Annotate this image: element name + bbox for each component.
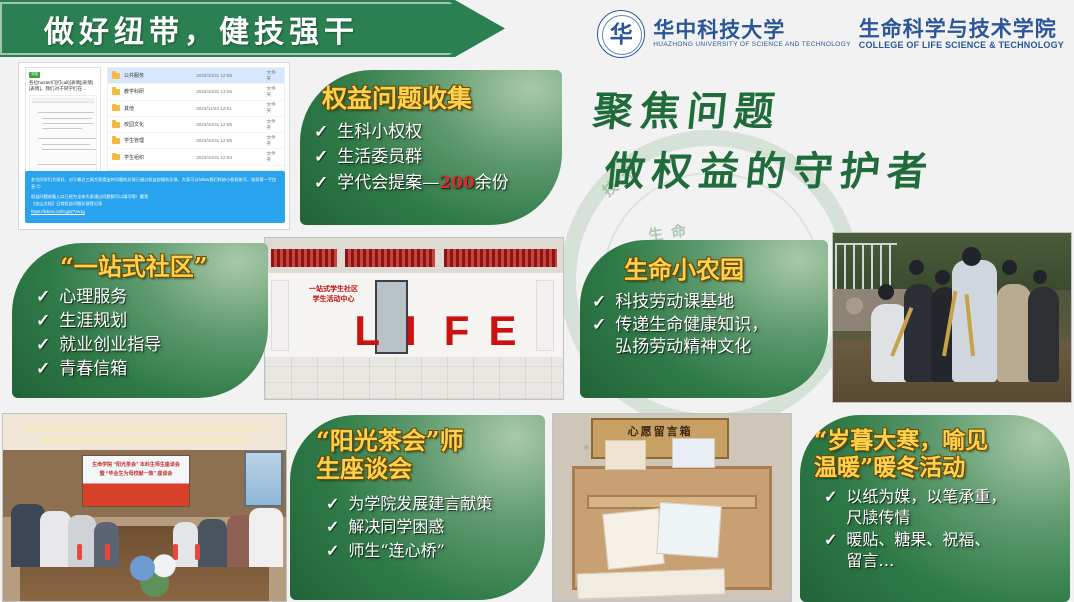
- card-bullets: ✓ 以纸为媒，以笔承重， 尺牍传情 ✓ 暖贴、糖果、祝福、 留言…: [824, 487, 1070, 571]
- list-item: ✓ 师生“连心桥”: [326, 541, 545, 561]
- person: [1028, 287, 1059, 382]
- wish-note: [656, 502, 721, 559]
- file-name: 校园文化: [124, 121, 196, 128]
- list-item-label: 就业创业指导: [59, 335, 161, 357]
- file-date: 2023/10/31 12:54: [196, 155, 266, 160]
- list-item-text-post: 余份: [475, 173, 509, 193]
- list-item: ✓ 以纸为媒，以笔承重， 尺牍传情: [824, 487, 1070, 528]
- list-item-label: 以纸为媒，以笔承重， 尺牍传情: [846, 487, 1006, 528]
- list-item-label: 心理服务: [59, 287, 127, 309]
- card-bullets: ✓ 科技劳动课基地 ✓ 传递生命健康知识， 弘扬劳动精神文化: [592, 292, 828, 358]
- list-item-text-pre: 学代会提案—: [337, 173, 439, 193]
- list-item-label: 师生“连心桥”: [348, 541, 444, 561]
- headline-line-1: 聚焦问题: [591, 88, 784, 135]
- list-item: ✓ 生科小权权: [314, 122, 562, 144]
- check-icon: ✓: [326, 494, 339, 514]
- preview-line: [42, 123, 94, 124]
- file-name: 公共服务: [124, 72, 196, 79]
- list-item-highlight: 200: [439, 173, 475, 193]
- card-bullets: ✓ 心理服务 ✓ 生涯规划 ✓ 就业创业指导 ✓ 青春信箱: [36, 287, 268, 380]
- card-title: “阳光茶会”师 生座谈会: [316, 427, 545, 484]
- file-type: 文件夹: [267, 102, 280, 114]
- table-row[interactable]: 学生管理 2023/10/31 12:55 文件夹: [108, 133, 284, 149]
- file-type: 文件夹: [267, 151, 280, 163]
- preview-line: [42, 128, 82, 129]
- list-item: ✓ 解决同学困惑: [326, 517, 545, 537]
- file-type: 文件夹: [267, 86, 280, 98]
- photo-student-activity-center: 一站式学生社区 学生活动中心 L I F E: [264, 237, 564, 400]
- file-list[interactable]: 公共服务 2023/10/31 12:58 文件夹 教学科研 2023/10/3…: [107, 67, 285, 171]
- list-item-label: 解决同学困惑: [348, 517, 444, 537]
- wall-letter: L: [354, 312, 380, 354]
- louver-panel: [444, 249, 557, 267]
- file-name: 教学科研: [124, 88, 196, 95]
- file-type: 文件夹: [267, 119, 280, 131]
- file-date: 2023/11/23 12:51: [196, 106, 266, 111]
- head: [962, 247, 981, 266]
- ceiling-light-strip: [37, 438, 252, 441]
- head: [1002, 260, 1017, 275]
- message-chip: 消息: [29, 72, 40, 78]
- card-life-farm: 生命小农园 ✓ 科技劳动课基地 ✓ 传递生命健康知识， 弘扬劳动精神文化: [580, 240, 828, 398]
- folder-icon: [112, 89, 120, 95]
- louver-panel: [345, 249, 434, 267]
- list-item-label: 暖贴、糖果、祝福、 留言…: [846, 530, 990, 571]
- bubble-line-1: 各位同学们大家好，对于最近三周大家提出的问题的反馈已通过权益部服务反馈，大家可以…: [31, 176, 279, 190]
- list-item-label: 学代会提案—200余份: [337, 173, 509, 195]
- water-bottle: [195, 544, 200, 560]
- check-icon: ✓: [326, 517, 339, 537]
- list-item-label: 科技劳动课基地: [615, 292, 734, 314]
- check-icon: ✓: [824, 487, 837, 507]
- preview-line: [38, 164, 97, 165]
- card-title: 权益问题收集: [322, 84, 562, 114]
- photo-content: 心愿留言箱: [553, 414, 791, 601]
- water-bottle: [105, 544, 110, 560]
- list-item: ✓ 青春信箱: [36, 359, 268, 381]
- preview-line: [42, 118, 92, 119]
- university-emblem-icon: 华: [597, 10, 645, 58]
- folder-icon: [112, 73, 120, 79]
- wall-poster: [536, 280, 554, 351]
- photo-content: [833, 233, 1071, 402]
- wish-note: [672, 438, 715, 468]
- logo-university-en: HUAZHONG UNIVERSITY OF SCIENCE AND TECHN…: [653, 41, 851, 49]
- list-item-label: 传递生命健康知识， 弘扬劳动精神文化: [615, 315, 768, 359]
- water-bottle: [77, 544, 82, 560]
- list-item-line-2: 尺牍传情: [846, 508, 1006, 528]
- list-item: ✓ 学代会提案—200余份: [314, 173, 562, 195]
- wall-letter: F: [444, 312, 470, 354]
- list-item-label: 生涯规划: [59, 311, 127, 333]
- photo-students-gardening: [832, 232, 1072, 403]
- check-icon: ✓: [36, 311, 50, 333]
- list-item-label: 生活委员群: [337, 147, 422, 169]
- preview-line: [42, 149, 96, 150]
- list-item-line-1: 传递生命健康知识，: [615, 315, 768, 337]
- check-icon: ✓: [824, 530, 837, 550]
- card-title-line-1: “岁暮大寒，喻见: [814, 427, 1070, 454]
- presentation-screen: 生命学院 “阳光茶会” 本科生师生座谈会 暨 “毕业生为母校献一策” 座谈会: [82, 455, 190, 507]
- table-row[interactable]: 校园文化 2023/10/31 12:55 文件夹: [108, 117, 284, 133]
- seated-person: [198, 519, 226, 568]
- preview-line: [38, 112, 94, 113]
- logo-university-block: 华中科技大学 HUAZHONG UNIVERSITY OF SCIENCE AN…: [653, 18, 851, 50]
- head: [1033, 270, 1047, 284]
- photo-content: 生命学院 “阳光茶会” 本科生师生座谈会 暨 “毕业生为母校献一策” 座谈会: [3, 414, 286, 601]
- card-title: “岁暮大寒，喻见 温暖”暖冬活动: [814, 427, 1070, 481]
- check-icon: ✓: [592, 315, 606, 337]
- wish-note: [576, 569, 724, 600]
- screen-caption: 生命学院 “阳光茶会” 本科生师生座谈会 暨 “毕业生为母校献一策” 座谈会: [83, 456, 189, 479]
- chat-bubble: 各位同学们大家好，对于最近三周大家提出的问题的反馈已通过权益部服务反馈，大家可以…: [25, 171, 285, 223]
- chat-message-panel: 消息 各位huster们[打call][表情][表情][表情]，我们对于同学们在…: [25, 67, 101, 187]
- seated-person: [40, 511, 71, 567]
- bubble-line-2: 权益问题收集入口已经为全体大家通过问题都可以填写哦！戳我: [31, 193, 279, 200]
- list-item-line-2: 留言…: [846, 551, 990, 571]
- list-item-label: 为学院发展建言献策: [348, 494, 492, 514]
- preview-line: [42, 144, 90, 145]
- file-type: 文件夹: [267, 135, 280, 147]
- message-text: 各位huster们[打call][表情][表情][表情]，我们对于同学们在…: [29, 80, 97, 92]
- preview-line: [38, 138, 96, 139]
- file-date: 2023/10/31 12:55: [196, 138, 266, 143]
- wall-letter: E: [489, 312, 517, 354]
- list-item-line-1: 以纸为媒，以笔承重，: [846, 487, 1006, 507]
- floor: [265, 357, 563, 399]
- person: [997, 284, 1030, 382]
- table-row[interactable]: 教学科研 2023/10/31 13:05 文件夹: [108, 84, 284, 100]
- card-sunshine-tea-party: “阳光茶会”师 生座谈会 ✓ 为学院发展建言献策 ✓ 解决同学困惑 ✓ 师生“连…: [290, 415, 545, 600]
- person: [952, 260, 997, 382]
- table-row[interactable]: 学生组织 2023/10/31 12:54 文件夹: [108, 149, 284, 165]
- card-title: “一站式社区”: [60, 253, 268, 281]
- logo-college-en: COLLEGE OF LIFE SCIENCE & TECHNOLOGY: [859, 40, 1064, 52]
- window: [244, 451, 284, 507]
- wish-note: [605, 440, 645, 470]
- photo-caption-line-2: 学生活动中心: [304, 295, 364, 305]
- bubble-link[interactable]: https://kdocs.cn/l/cgjsI7Vw1g: [31, 208, 279, 215]
- slide-canvas: 技 术 生 命 做好纽带，健技强干 华 华中科技大学 HUAZHONG UNIV…: [0, 0, 1074, 602]
- screen-caption-line-1: 生命学院 “阳光茶会” 本科生师生座谈会: [83, 461, 189, 470]
- logo-college-cn: 生命科学与技术学院: [859, 17, 1064, 40]
- logo-college-block: 生命科学与技术学院 COLLEGE OF LIFE SCIENCE & TECH…: [859, 17, 1064, 52]
- wall-letter: I: [405, 312, 417, 354]
- header-banner-title: 做好纽带，健技强干: [44, 7, 359, 51]
- list-item: ✓ 生活委员群: [314, 147, 562, 169]
- check-icon: ✓: [592, 292, 606, 314]
- preview-toolbar: [32, 98, 94, 103]
- list-item: ✓ 科技劳动课基地: [592, 292, 828, 314]
- headline: 聚焦问题 做权益的守护者: [584, 82, 944, 202]
- door: [375, 280, 408, 354]
- table-row[interactable]: 其他 2023/11/23 12:51 文件夹: [108, 101, 284, 117]
- university-logo: 华 华中科技大学 HUAZHONG UNIVERSITY OF SCIENCE …: [597, 8, 1064, 60]
- list-item: ✓ 为学院发展建言献策: [326, 494, 545, 514]
- check-icon: ✓: [36, 359, 50, 381]
- document-preview: [29, 95, 97, 177]
- list-item-line-1: 科技劳动课基地: [615, 292, 734, 314]
- headline-line-2: 做权益的守护者: [602, 142, 937, 202]
- photo-tea-party-meeting: 生命学院 “阳光茶会” 本科生师生座谈会 暨 “毕业生为母校献一策” 座谈会: [2, 413, 287, 602]
- file-name: 学生组织: [124, 154, 196, 161]
- card-winter-warmth: “岁暮大寒，喻见 温暖”暖冬活动 ✓ 以纸为媒，以笔承重， 尺牍传情 ✓ 暖贴、…: [800, 415, 1070, 602]
- photo-caption-line-1: 一站式学生社区: [304, 285, 364, 295]
- list-item-label: 生科小权权: [337, 122, 422, 144]
- photo-caption-overlay: 一站式学生社区 学生活动中心: [304, 283, 364, 309]
- list-item-label: 青春信箱: [59, 359, 127, 381]
- flower-arrangement: [122, 549, 190, 598]
- folder-icon: [112, 105, 120, 111]
- card-one-stop-community: “一站式社区” ✓ 心理服务 ✓ 生涯规划 ✓ 就业创业指导 ✓ 青春信箱: [12, 243, 268, 398]
- file-name: 学生管理: [124, 137, 196, 144]
- wall-poster: [271, 280, 289, 351]
- logo-university-cn: 华中科技大学: [653, 18, 851, 41]
- list-item-line-1: 暖贴、糖果、祝福、: [846, 530, 990, 550]
- card-bullets: ✓ 生科小权权 ✓ 生活委员群 ✓ 学代会提案—200余份: [314, 122, 562, 195]
- list-item: ✓ 就业创业指导: [36, 335, 268, 357]
- card-title-line-2: 温暖”暖冬活动: [814, 454, 1070, 481]
- check-icon: ✓: [36, 335, 50, 357]
- table-row[interactable]: 公共服务 2023/10/31 12:58 文件夹: [108, 68, 284, 84]
- card-title-line-1: “阳光茶会”师: [316, 427, 545, 455]
- wish-note: [603, 508, 666, 570]
- photo-wish-message-box: 心愿留言箱: [552, 413, 792, 602]
- list-item-line-2: 弘扬劳动精神文化: [615, 337, 768, 359]
- app-screenshot: 消息 各位huster们[打call][表情][表情][表情]，我们对于同学们在…: [18, 62, 290, 230]
- check-icon: ✓: [326, 541, 339, 561]
- card-rights-collection: 权益问题收集 ✓ 生科小权权 ✓ 生活委员群 ✓ 学代会提案—200余份: [300, 70, 562, 225]
- file-type: 文件夹: [267, 70, 280, 82]
- folder-icon: [112, 138, 120, 144]
- ceiling-light-strip: [20, 427, 269, 430]
- seated-person: [68, 515, 96, 567]
- card-title: 生命小农园: [624, 256, 828, 284]
- bubble-line-3: 【金山文档】日常权益问题反馈登记表: [31, 200, 279, 207]
- folder-icon: [112, 122, 120, 128]
- list-item: ✓ 心理服务: [36, 287, 268, 309]
- file-date: 2023/10/31 13:05: [196, 89, 266, 94]
- louver-panel: [271, 249, 337, 267]
- card-title-line-2: 生座谈会: [316, 455, 545, 483]
- check-icon: ✓: [314, 173, 328, 195]
- list-item: ✓ 生涯规划: [36, 311, 268, 333]
- check-icon: ✓: [314, 147, 328, 169]
- check-icon: ✓: [314, 122, 328, 144]
- file-date: 2023/10/31 12:58: [196, 73, 266, 78]
- check-icon: ✓: [36, 287, 50, 309]
- head: [878, 284, 894, 300]
- screen-caption-line-2: 暨 “毕业生为母校献一策” 座谈会: [83, 470, 189, 479]
- list-item: ✓ 传递生命健康知识， 弘扬劳动精神文化: [592, 315, 828, 359]
- file-date: 2023/10/31 12:55: [196, 122, 266, 127]
- photo-content: 一站式学生社区 学生活动中心 L I F E: [265, 238, 563, 399]
- seated-person: [249, 508, 283, 568]
- emblem-glyph: 华: [598, 18, 644, 52]
- folder-icon: [112, 154, 120, 160]
- ceiling: [3, 414, 286, 450]
- list-item: ✓ 暖贴、糖果、祝福、 留言…: [824, 530, 1070, 571]
- file-name: 其他: [124, 105, 196, 112]
- card-bullets: ✓ 为学院发展建言献策 ✓ 解决同学困惑 ✓ 师生“连心桥”: [326, 494, 545, 561]
